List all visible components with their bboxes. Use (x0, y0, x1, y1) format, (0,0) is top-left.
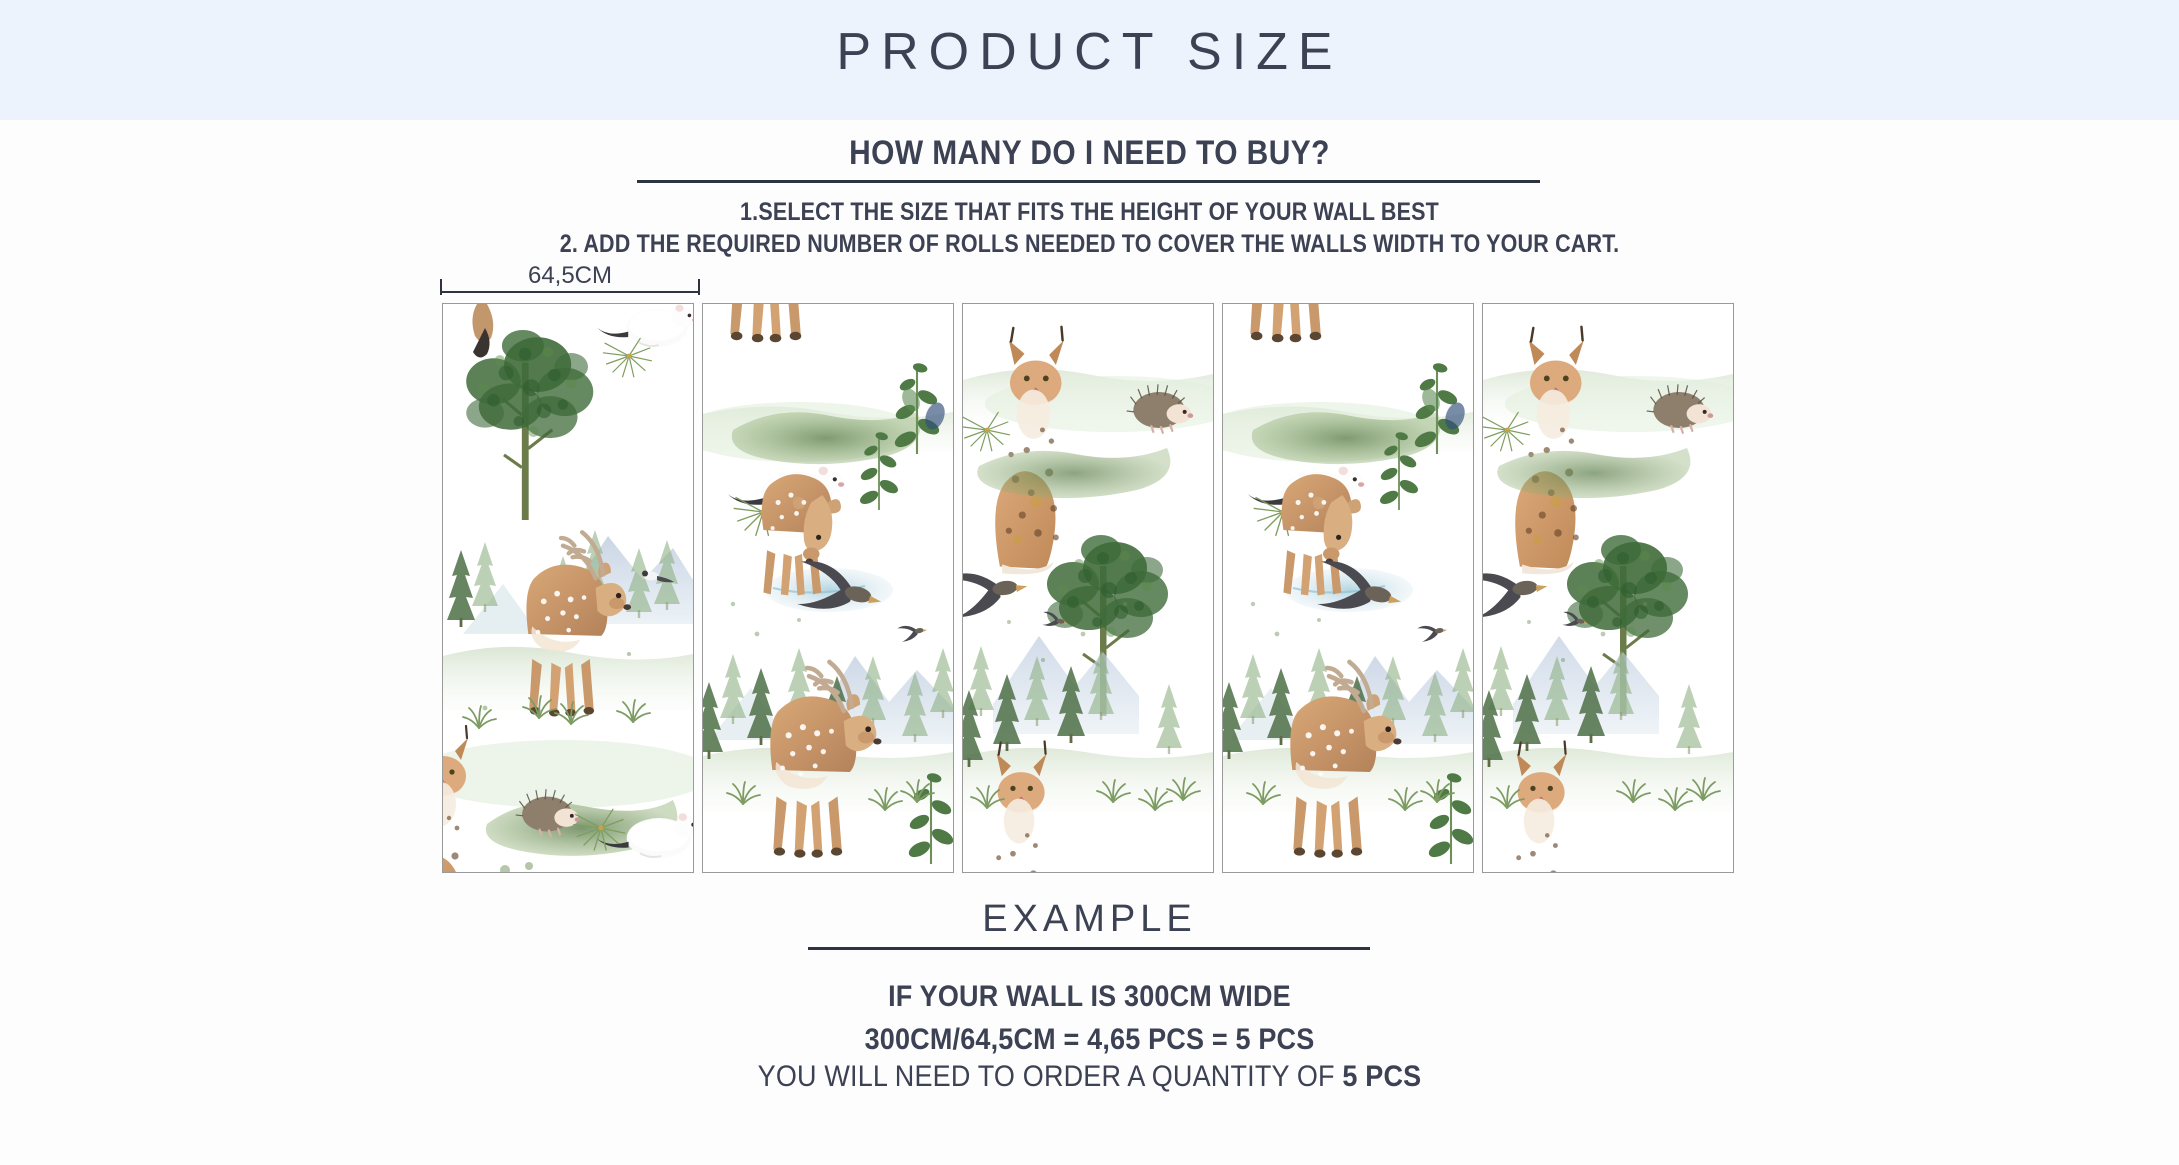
example-calculation: IF YOUR WALL IS 300CM WIDE 300CM/64,5CM … (0, 975, 2179, 1061)
wallpaper-panel[interactable] (1482, 303, 1734, 873)
wallpaper-panel[interactable] (702, 303, 954, 873)
example-formula: 300CM/64,5CM = 4,65 PCS = 5 PCS (109, 1018, 2070, 1061)
conclusion-prefix: YOU WILL NEED TO ORDER A QUANTITY OF (758, 1060, 1343, 1093)
instructions-steps: 1.SELECT THE SIZE THAT FITS THE HEIGHT O… (0, 196, 2179, 260)
dimension-line (440, 291, 700, 293)
wallpaper-panel-group (442, 303, 1738, 873)
wallpaper-panel[interactable] (442, 303, 694, 873)
page-title: PRODUCT SIZE (0, 22, 2179, 82)
instructions-question: HOW MANY DO I NEED TO BUY? (131, 134, 2049, 173)
wallpaper-panel[interactable] (962, 303, 1214, 873)
instruction-step-2: 2. ADD THE REQUIRED NUMBER OF ROLLS NEED… (153, 228, 2027, 260)
divider-example (808, 947, 1370, 950)
example-wall-width: IF YOUR WALL IS 300CM WIDE (109, 975, 2070, 1018)
conclusion-quantity: 5 PCS (1342, 1060, 1421, 1093)
divider-instructions (637, 180, 1540, 183)
example-title: EXAMPLE (0, 898, 2179, 941)
example-conclusion: YOU WILL NEED TO ORDER A QUANTITY OF 5 P… (109, 1060, 2070, 1094)
dimension-width-label: 64,5CM (440, 262, 700, 290)
instruction-step-1: 1.SELECT THE SIZE THAT FITS THE HEIGHT O… (153, 196, 2027, 228)
wallpaper-panel[interactable] (1222, 303, 1474, 873)
dimension-tick-left (440, 279, 442, 295)
dimension-tick-right (698, 279, 700, 295)
